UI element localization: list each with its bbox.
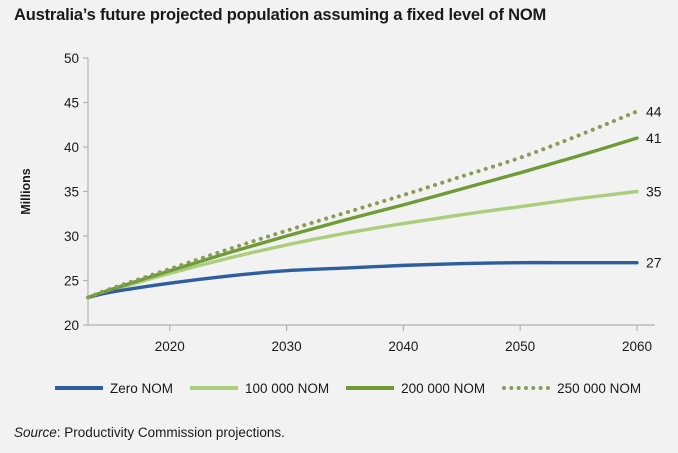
y-tick-label: 35 (64, 185, 79, 200)
x-axis: 20202030204020502060 (88, 325, 655, 354)
line-chart-svg: 20253035404550 20202030204020502060 Mill… (0, 40, 678, 360)
series-end-label: 27 (646, 255, 662, 271)
series-end-label: 41 (646, 130, 662, 146)
legend-item[interactable]: 200 000 NOM (346, 381, 485, 396)
legend-item-label: 100 000 NOM (245, 381, 329, 396)
legend-swatch-icon (502, 386, 550, 390)
chart-figure: Australia’s future projected population … (0, 0, 678, 453)
source-note: Source: Productivity Commission projecti… (14, 425, 285, 440)
y-tick-label: 25 (64, 274, 79, 289)
y-axis-title-text: Millions (19, 168, 33, 215)
data-series-group (88, 111, 637, 297)
legend-swatch-icon (55, 386, 103, 390)
legend-swatch-icon (346, 386, 394, 390)
source-text: Productivity Commission projections. (64, 425, 285, 440)
series-line (88, 263, 637, 298)
legend-item[interactable]: Zero NOM (55, 381, 173, 396)
series-end-labels: 27354144 (646, 103, 662, 270)
legend-item-label: 250 000 NOM (557, 381, 641, 396)
y-tick-label: 45 (64, 96, 79, 111)
y-axis: 20253035404550 (64, 51, 88, 333)
y-tick-label: 20 (64, 318, 79, 333)
source-label: Source (14, 425, 57, 440)
x-tick-label: 2020 (155, 339, 185, 354)
x-tick-label: 2030 (272, 339, 302, 354)
chart-legend: Zero NOM100 000 NOM200 000 NOM250 000 NO… (55, 376, 665, 400)
legend-item[interactable]: 250 000 NOM (502, 381, 641, 396)
x-tick-label: 2060 (622, 339, 652, 354)
y-tick-label: 30 (64, 229, 79, 244)
x-tick-label: 2050 (505, 339, 535, 354)
legend-swatch-icon (190, 386, 238, 390)
legend-item-label: 200 000 NOM (401, 381, 485, 396)
x-tick-label: 2040 (388, 339, 418, 354)
y-tick-label: 50 (64, 51, 79, 66)
page-title: Australia’s future projected population … (14, 6, 664, 25)
y-tick-label: 40 (64, 140, 79, 155)
legend-item[interactable]: 100 000 NOM (190, 381, 329, 396)
y-axis-title: Millions (19, 168, 33, 215)
series-end-label: 35 (646, 184, 662, 200)
series-end-label: 44 (646, 103, 662, 119)
legend-item-label: Zero NOM (110, 381, 173, 396)
chart-plot-area: 20253035404550 20202030204020502060 Mill… (0, 40, 678, 360)
